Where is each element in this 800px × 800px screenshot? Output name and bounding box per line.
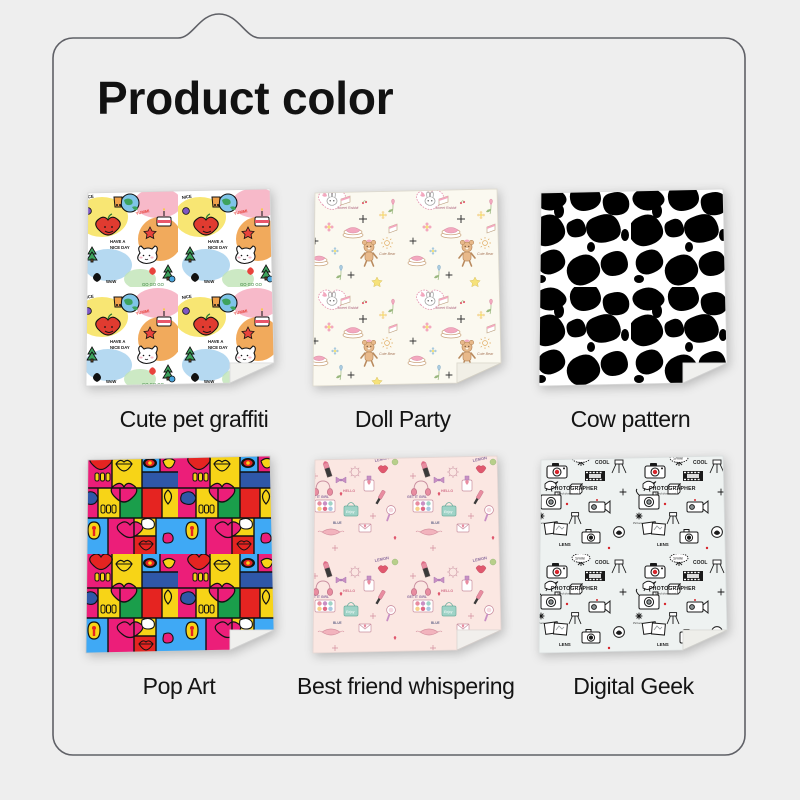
cloth-pop-art [80, 454, 276, 656]
swatch-image-cow-pattern[interactable] [525, 183, 737, 401]
cloth-cute-pet-graffiti: NICE HAVE A NICE DAY WoW YUMMI GO GO GO [80, 187, 276, 389]
swatch-item-best-friend-whispering[interactable]: Enjoy [296, 450, 513, 699]
cloth-best-friend-whispering: Enjoy [307, 454, 503, 656]
swatch-image-cute-pet-graffiti[interactable]: NICE HAVE A NICE DAY WoW YUMMI GO GO GO [72, 183, 284, 401]
swatch-label-cute-pet-graffiti: Cute pet graffiti [120, 407, 269, 432]
swatch-label-cow-pattern: Cow pattern [571, 407, 691, 432]
swatch-item-digital-geek[interactable]: PHOTOGRAPHER hand drawn set COOL Smile L… [525, 450, 737, 699]
product-color-page: Product color [0, 0, 800, 800]
swatch-label-digital-geek: Digital Geek [573, 674, 693, 699]
page-title: Product color [97, 72, 393, 125]
swatch-grid: NICE HAVE A NICE DAY WoW YUMMI GO GO GO [72, 183, 732, 700]
cloth-digital-geek: PHOTOGRAPHER hand drawn set COOL Smile L… [533, 454, 729, 656]
cloth-doll-party: Sweet Rabbit [307, 187, 503, 389]
swatch-image-best-friend-whispering[interactable]: Enjoy [299, 450, 511, 668]
swatch-item-cute-pet-graffiti[interactable]: NICE HAVE A NICE DAY WoW YUMMI GO GO GO [72, 183, 284, 432]
swatch-image-pop-art[interactable] [72, 450, 284, 668]
swatch-item-pop-art[interactable]: Pop Art [72, 450, 284, 699]
swatch-label-doll-party: Doll Party [355, 407, 451, 432]
swatch-label-best-friend-whispering: Best friend whispering [297, 674, 514, 699]
swatch-label-pop-art: Pop Art [143, 674, 216, 699]
swatch-image-digital-geek[interactable]: PHOTOGRAPHER hand drawn set COOL Smile L… [525, 450, 737, 668]
cloth-cow-pattern [533, 187, 729, 389]
swatch-image-doll-party[interactable]: Sweet Rabbit [299, 183, 511, 401]
swatch-item-cow-pattern[interactable]: Cow pattern [525, 183, 737, 432]
swatch-item-doll-party[interactable]: Sweet Rabbit [296, 183, 513, 432]
